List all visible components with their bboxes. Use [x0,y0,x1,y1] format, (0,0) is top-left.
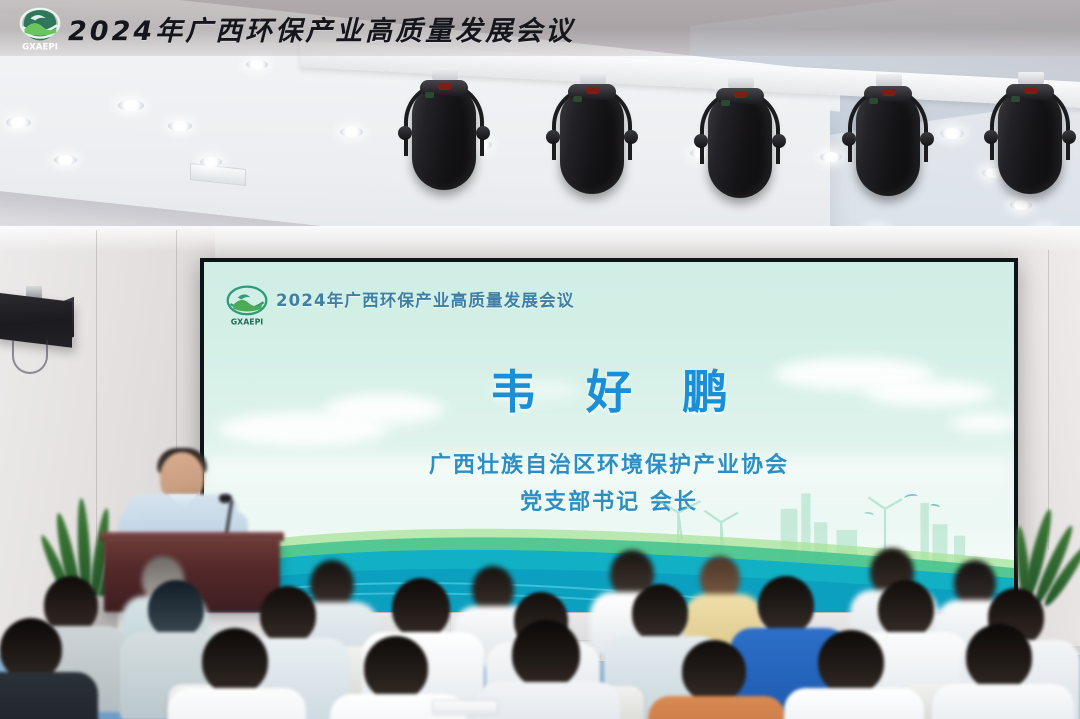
wall-cove-glow [0,226,1080,252]
recessed-downlight-icon [54,155,77,165]
stage-spotlight-icon [546,82,638,210]
name-card-icon [432,700,498,715]
recessed-downlight-icon [6,117,31,128]
stage-spotlight-icon [984,82,1076,210]
recessed-downlight-icon [246,60,268,69]
wall-seam [96,230,97,560]
svg-text:GXAEPI: GXAEPI [22,43,58,52]
recessed-downlight-icon [940,128,964,139]
stage-spotlight-icon [694,86,786,214]
watermark-bar: GXAEPI 2024年广西环保产业高质量发展会议 [0,0,1080,56]
speaker-name: 韦 好 鹏 [204,356,1014,422]
screen-logo: GXAEPI [224,282,270,328]
screen-header-title: 2024年广西环保产业高质量发展会议 [276,287,575,311]
watermark-logo: GXAEPI [16,4,64,52]
speaker-organization: 广西壮族自治区环境保护产业协会 [204,447,1014,479]
recessed-downlight-icon [200,157,222,167]
conference-photo-scene: GXAEPI 2024年广西环保产业高质量发展会议 韦 好 鹏 广西壮族自治区环… [0,0,1080,719]
recessed-downlight-icon [118,100,144,111]
microphone-head [219,494,232,503]
stage-spotlight-icon [398,78,490,206]
svg-text:GXAEPI: GXAEPI [231,317,264,326]
recessed-downlight-icon [340,127,363,137]
wall-seam [1048,250,1049,550]
watermark-title: 2024年广西环保产业高质量发展会议 [68,9,575,48]
recessed-downlight-icon [168,121,192,131]
stage-spotlight-icon [842,84,934,212]
recessed-downlight-icon [820,152,842,162]
